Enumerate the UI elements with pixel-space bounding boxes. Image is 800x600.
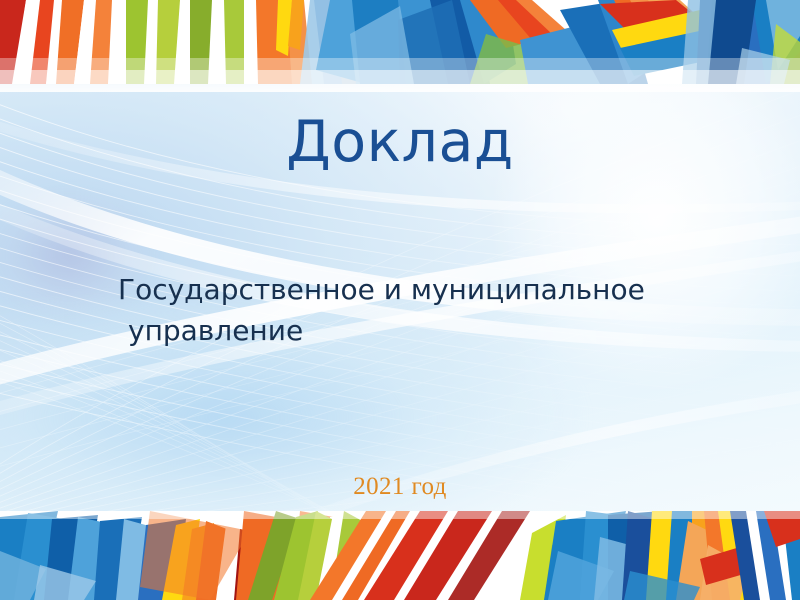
slide-year: 2021 год bbox=[0, 473, 800, 501]
slide-title: Доклад bbox=[0, 113, 800, 173]
slide-subtitle: Государственное и муниципальное управлен… bbox=[118, 270, 718, 351]
subtitle-line-1: Государственное и муниципальное bbox=[118, 273, 645, 306]
bottom-decorative-band bbox=[0, 511, 800, 600]
top-decorative-band bbox=[0, 0, 800, 84]
subtitle-line-2: управление bbox=[118, 311, 718, 352]
presentation-slide: Доклад Государственное и муниципальное у… bbox=[0, 0, 800, 600]
